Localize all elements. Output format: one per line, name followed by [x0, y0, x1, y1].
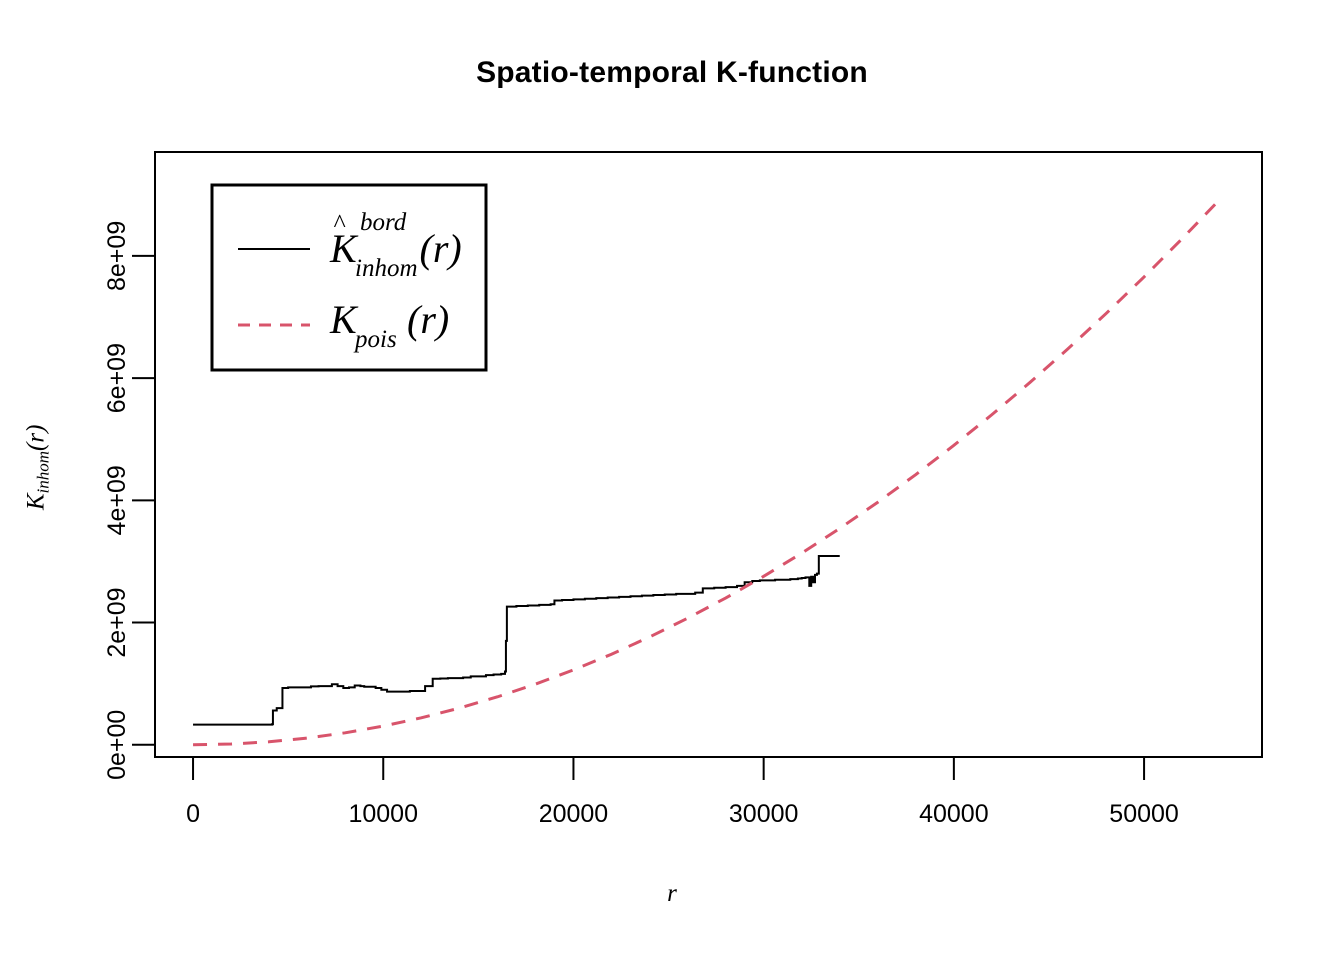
- legend-tail-kinhom: (r): [420, 226, 462, 271]
- x-axis-tick-label: 20000: [539, 800, 609, 828]
- series-line-Kinhom_bord: [193, 556, 840, 725]
- legend-superscript-kinhom: bord: [360, 209, 407, 236]
- legend-box: [212, 185, 486, 370]
- legend-subscript-kinhom: inhom: [355, 255, 418, 282]
- x-axis-tick-label: 40000: [919, 800, 989, 828]
- legend-tail-kpois: (r): [407, 297, 449, 342]
- plot-svg: 01000020000300004000050000 0e+002e+094e+…: [0, 0, 1344, 960]
- x-axis-tick-label: 30000: [729, 800, 799, 828]
- x-axis: 01000020000300004000050000: [186, 757, 1179, 828]
- legend: K^bordinhom(r)Kpois(r): [212, 185, 486, 370]
- y-axis-tick-label: 2e+09: [103, 587, 131, 657]
- y-axis-tick-label: 6e+09: [103, 343, 131, 413]
- y-axis-tick-label: 8e+09: [103, 221, 131, 291]
- x-axis-tick-label: 10000: [348, 800, 418, 828]
- y-axis-tick-label: 0e+00: [103, 710, 131, 780]
- y-axis-tick-label: 4e+09: [103, 465, 131, 535]
- x-axis-tick-label: 0: [186, 800, 200, 828]
- chart-container: Spatio-temporal K-function Kinhom(r) r 0…: [0, 0, 1344, 960]
- x-axis-tick-label: 50000: [1109, 800, 1179, 828]
- y-axis: 0e+002e+094e+096e+098e+09: [103, 221, 155, 780]
- legend-subscript-kpois: pois: [353, 326, 397, 353]
